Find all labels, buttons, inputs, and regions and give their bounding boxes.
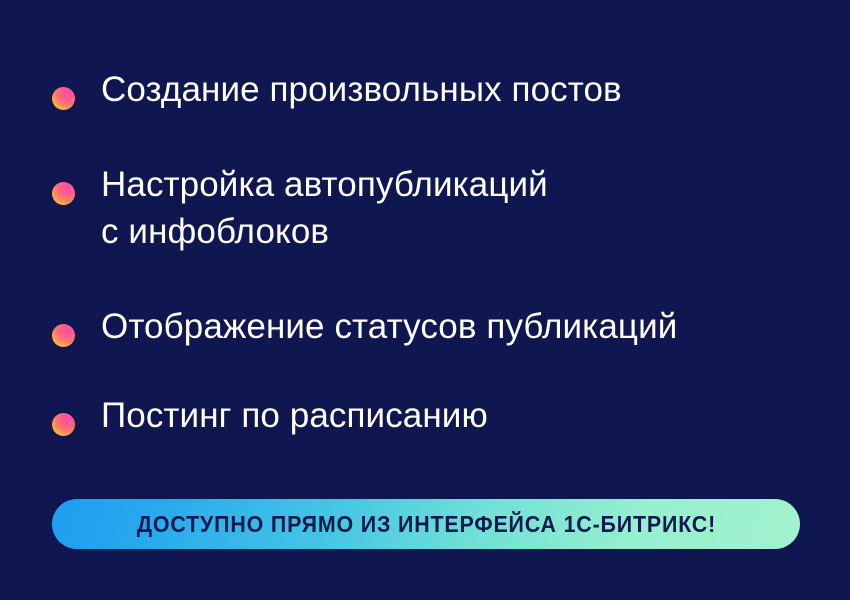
cta-button-label: Доступно прямо из интерфейса 1С-Битрикс!: [136, 511, 715, 538]
list-item: Создание произвольных постов: [52, 66, 812, 113]
feature-label: Постинг по расписанию: [101, 392, 812, 439]
feature-label: Отображение статусов публикаций: [101, 303, 812, 350]
feature-label: Создание произвольных постов: [101, 66, 812, 113]
list-item: Постинг по расписанию: [52, 392, 812, 439]
cta-button[interactable]: Доступно прямо из интерфейса 1С-Битрикс!: [52, 499, 800, 549]
bullet-dot-icon: [52, 182, 75, 205]
bullet-dot-icon: [52, 87, 75, 110]
list-item: Отображение статусов публикаций: [52, 303, 812, 350]
feature-label: Настройка автопубликаций с инфоблоков: [101, 161, 812, 255]
promo-slide: Создание произвольных постов Настройка а…: [0, 0, 850, 600]
feature-list: Создание произвольных постов Настройка а…: [52, 66, 812, 439]
list-item: Настройка автопубликаций с инфоблоков: [52, 161, 812, 255]
bullet-dot-icon: [52, 413, 75, 436]
bullet-dot-icon: [52, 324, 75, 347]
